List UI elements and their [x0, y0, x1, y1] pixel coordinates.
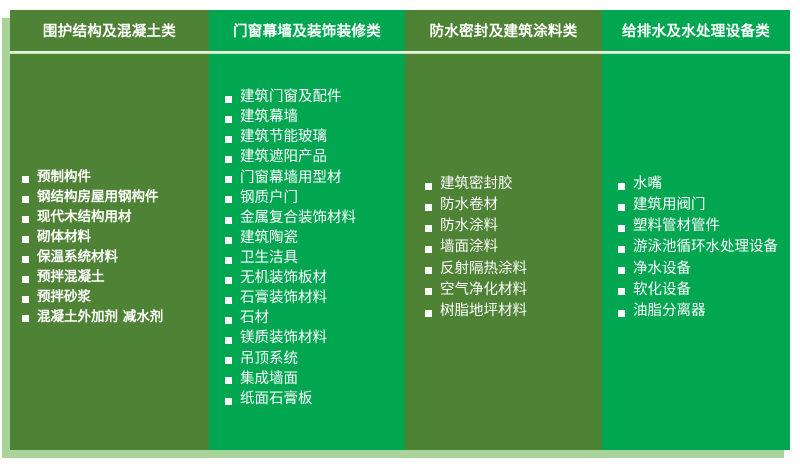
square-bullet-icon: [22, 176, 29, 183]
square-bullet-icon: [618, 204, 625, 211]
list-item-label: 钢结构房屋用钢构件: [37, 189, 159, 205]
list-item[interactable]: 防水涂料: [425, 218, 596, 235]
square-bullet-icon: [225, 237, 232, 244]
list-item[interactable]: 建筑用阀门: [618, 197, 784, 214]
list-item-label: 预制构件: [37, 169, 91, 185]
list-item[interactable]: 游泳池循环水处理设备: [618, 239, 784, 256]
list-item-label: 门窗幕墙用型材: [240, 170, 342, 186]
list-item[interactable]: 空气净化材料: [425, 282, 596, 299]
square-bullet-icon: [225, 398, 232, 405]
list-item[interactable]: 建筑门窗及配件: [225, 89, 401, 106]
list-item[interactable]: 无机装饰板材: [225, 270, 401, 287]
list-item[interactable]: 建筑幕墙: [225, 109, 401, 126]
list-item[interactable]: 建筑陶瓷: [225, 230, 401, 247]
list-item[interactable]: 钢质户门: [225, 190, 401, 207]
list-item-label: 无机装饰板材: [240, 270, 327, 286]
list-item[interactable]: 树脂地坪材料: [425, 303, 596, 320]
list-item-label: 游泳池循环水处理设备: [633, 239, 778, 255]
list-item[interactable]: 反射隔热涂料: [425, 261, 596, 278]
list-item-label: 石材: [240, 310, 269, 326]
list-item[interactable]: 预拌混凝土: [22, 270, 203, 286]
list-item-label: 混凝土外加剂 减水剂: [37, 309, 163, 325]
column-header-title: 围护结构及混凝土类: [10, 10, 209, 51]
list-item[interactable]: 水嘴: [618, 176, 784, 193]
square-bullet-icon: [225, 317, 232, 324]
category-column-waterproof-sealing-coatings[interactable]: 防水密封及建筑涂料类 建筑密封胶 防水卷材 防水涂料 墙面涂料 反射隔热涂料 空…: [405, 10, 602, 450]
square-bullet-icon: [225, 377, 232, 384]
list-item-label: 预拌混凝土: [37, 269, 105, 285]
list-item-label: 树脂地坪材料: [440, 303, 527, 319]
list-item[interactable]: 现代木结构用材: [22, 210, 203, 226]
list-item[interactable]: 吊顶系统: [225, 351, 401, 368]
list-item-label: 镁质装饰材料: [240, 330, 327, 346]
list-item[interactable]: 净水设备: [618, 261, 784, 278]
list-item-label: 保温系统材料: [37, 249, 118, 265]
list-item[interactable]: 钢结构房屋用钢构件: [22, 190, 203, 206]
list-item-label: 建筑幕墙: [240, 109, 298, 125]
list-item[interactable]: 卫生洁具: [225, 250, 401, 267]
item-list: 建筑门窗及配件 建筑幕墙 建筑节能玻璃 建筑遮阳产品 门窗幕墙用型材 钢质户门 …: [225, 89, 401, 411]
square-bullet-icon: [225, 196, 232, 203]
square-bullet-icon: [225, 136, 232, 143]
square-bullet-icon: [225, 257, 232, 264]
list-item-label: 油脂分离器: [633, 303, 706, 319]
column-item-list-body: 预制构件 钢结构房屋用钢构件 现代木结构用材 砌体材料 保温系统材料 预拌混凝土…: [10, 54, 209, 450]
list-item[interactable]: 金属复合装饰材料: [225, 210, 401, 227]
column-item-list-body: 水嘴 建筑用阀门 塑料管材管件 游泳池循环水处理设备 净水设备 软化设备 油脂分…: [602, 54, 790, 450]
list-item[interactable]: 建筑遮阳产品: [225, 149, 401, 166]
list-item-label: 吊顶系统: [240, 351, 298, 367]
square-bullet-icon: [225, 116, 232, 123]
list-item[interactable]: 建筑节能玻璃: [225, 129, 401, 146]
category-column-envelope-concrete[interactable]: 围护结构及混凝土类 预制构件 钢结构房屋用钢构件 现代木结构用材 砌体材料 保温…: [10, 10, 209, 450]
category-column-doors-windows-curtainwall-decoration[interactable]: 门窗幕墙及装饰装修类 建筑门窗及配件 建筑幕墙 建筑节能玻璃 建筑遮阳产品 门窗…: [209, 10, 405, 450]
list-item[interactable]: 砌体材料: [22, 230, 203, 246]
square-bullet-icon: [22, 296, 29, 303]
square-bullet-icon: [225, 337, 232, 344]
square-bullet-icon: [618, 183, 625, 190]
item-list: 预制构件 钢结构房屋用钢构件 现代木结构用材 砌体材料 保温系统材料 预拌混凝土…: [22, 170, 203, 329]
list-item-label: 建筑门窗及配件: [240, 89, 342, 105]
list-item-label: 防水卷材: [440, 197, 498, 213]
list-item[interactable]: 塑料管材管件: [618, 218, 784, 235]
list-item-label: 钢质户门: [240, 190, 298, 206]
list-item-label: 集成墙面: [240, 371, 298, 387]
square-bullet-icon: [425, 288, 432, 295]
square-bullet-icon: [22, 315, 29, 322]
list-item[interactable]: 墙面涂料: [425, 239, 596, 256]
square-bullet-icon: [225, 96, 232, 103]
square-bullet-icon: [618, 310, 625, 317]
square-bullet-icon: [425, 225, 432, 232]
column-header-title: 门窗幕墙及装饰装修类: [209, 10, 405, 51]
square-bullet-icon: [22, 236, 29, 243]
square-bullet-icon: [225, 176, 232, 183]
list-item[interactable]: 集成墙面: [225, 371, 401, 388]
square-bullet-icon: [22, 256, 29, 263]
square-bullet-icon: [225, 297, 232, 304]
list-item[interactable]: 防水卷材: [425, 197, 596, 214]
list-item[interactable]: 建筑密封胶: [425, 176, 596, 193]
column-item-list-body: 建筑密封胶 防水卷材 防水涂料 墙面涂料 反射隔热涂料 空气净化材料 树脂地坪材…: [405, 54, 602, 450]
item-list: 水嘴 建筑用阀门 塑料管材管件 游泳池循环水处理设备 净水设备 软化设备 油脂分…: [618, 176, 784, 324]
square-bullet-icon: [225, 357, 232, 364]
list-item-label: 墙面涂料: [440, 239, 498, 255]
list-item-label: 砌体材料: [37, 229, 91, 245]
square-bullet-icon: [425, 183, 432, 190]
square-bullet-icon: [425, 267, 432, 274]
list-item[interactable]: 镁质装饰材料: [225, 330, 401, 347]
square-bullet-icon: [225, 156, 232, 163]
list-item-label: 预拌砂浆: [37, 289, 91, 305]
square-bullet-icon: [225, 217, 232, 224]
list-item[interactable]: 预拌砂浆: [22, 290, 203, 306]
category-column-water-supply-drainage-treatment[interactable]: 给排水及水处理设备类 水嘴 建筑用阀门 塑料管材管件 游泳池循环水处理设备 净水…: [602, 10, 790, 450]
square-bullet-icon: [618, 225, 625, 232]
list-item[interactable]: 混凝土外加剂 减水剂: [22, 310, 203, 326]
column-item-list-body: 建筑门窗及配件 建筑幕墙 建筑节能玻璃 建筑遮阳产品 门窗幕墙用型材 钢质户门 …: [209, 54, 405, 450]
square-bullet-icon: [618, 267, 625, 274]
item-list: 建筑密封胶 防水卷材 防水涂料 墙面涂料 反射隔热涂料 空气净化材料 树脂地坪材…: [425, 176, 596, 324]
column-header-title: 给排水及水处理设备类: [602, 10, 790, 51]
list-item[interactable]: 保温系统材料: [22, 250, 203, 266]
list-item-label: 金属复合装饰材料: [240, 210, 356, 226]
list-item-label: 建筑节能玻璃: [240, 129, 327, 145]
category-columns-panel: 围护结构及混凝土类 预制构件 钢结构房屋用钢构件 现代木结构用材 砌体材料 保温…: [10, 10, 790, 450]
square-bullet-icon: [425, 246, 432, 253]
list-item[interactable]: 预制构件: [22, 170, 203, 186]
column-header-title: 防水密封及建筑涂料类: [405, 10, 602, 51]
square-bullet-icon: [618, 288, 625, 295]
square-bullet-icon: [225, 277, 232, 284]
list-item-label: 建筑陶瓷: [240, 230, 298, 246]
square-bullet-icon: [425, 310, 432, 317]
list-item-label: 水嘴: [633, 176, 662, 192]
list-item-label: 塑料管材管件: [633, 218, 720, 234]
list-item[interactable]: 纸面石膏板: [225, 391, 401, 408]
square-bullet-icon: [22, 216, 29, 223]
list-item[interactable]: 石膏装饰材料: [225, 290, 401, 307]
list-item[interactable]: 软化设备: [618, 282, 784, 299]
list-item-label: 防水涂料: [440, 218, 498, 234]
list-item[interactable]: 门窗幕墙用型材: [225, 170, 401, 187]
list-item-label: 卫生洁具: [240, 250, 298, 266]
list-item-label: 净水设备: [633, 261, 691, 277]
list-item-label: 石膏装饰材料: [240, 290, 327, 306]
list-item[interactable]: 油脂分离器: [618, 303, 784, 320]
category-board: 围护结构及混凝土类 预制构件 钢结构房屋用钢构件 现代木结构用材 砌体材料 保温…: [0, 0, 800, 466]
list-item-label: 纸面石膏板: [240, 391, 313, 407]
list-item-label: 软化设备: [633, 282, 691, 298]
list-item-label: 现代木结构用材: [37, 209, 132, 225]
square-bullet-icon: [22, 276, 29, 283]
list-item-label: 空气净化材料: [440, 282, 527, 298]
square-bullet-icon: [425, 204, 432, 211]
square-bullet-icon: [618, 246, 625, 253]
list-item-label: 建筑用阀门: [633, 197, 706, 213]
square-bullet-icon: [22, 196, 29, 203]
list-item[interactable]: 石材: [225, 310, 401, 327]
list-item-label: 反射隔热涂料: [440, 261, 527, 277]
list-item-label: 建筑密封胶: [440, 176, 513, 192]
list-item-label: 建筑遮阳产品: [240, 149, 327, 165]
